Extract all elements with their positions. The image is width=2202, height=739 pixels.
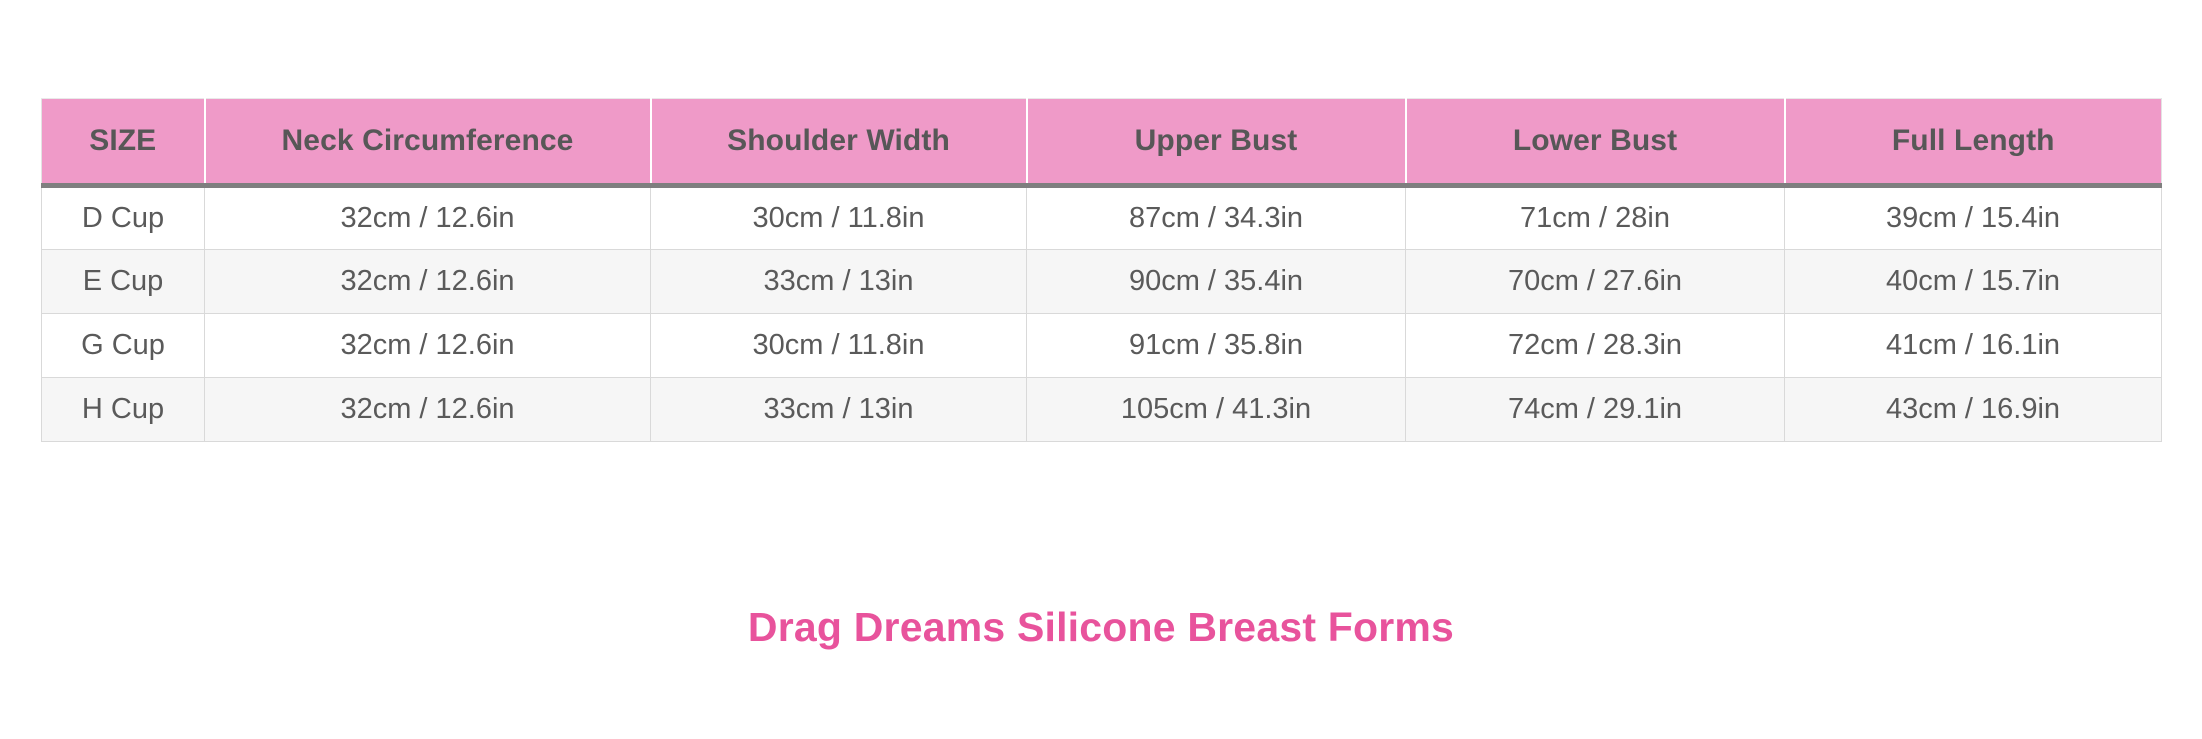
cell-neck-circumference: 32cm / 12.6in [205, 250, 651, 314]
column-header-size: SIZE [42, 99, 205, 186]
table-row: E Cup 32cm / 12.6in 33cm / 13in 90cm / 3… [42, 250, 2162, 314]
cell-size: E Cup [42, 250, 205, 314]
cell-full-length: 43cm / 16.9in [1785, 378, 2162, 442]
column-header-neck-circumference: Neck Circumference [205, 99, 651, 186]
table-row: H Cup 32cm / 12.6in 33cm / 13in 105cm / … [42, 378, 2162, 442]
table-row: D Cup 32cm / 12.6in 30cm / 11.8in 87cm /… [42, 186, 2162, 250]
cell-full-length: 41cm / 16.1in [1785, 314, 2162, 378]
cell-upper-bust: 105cm / 41.3in [1027, 378, 1406, 442]
cell-upper-bust: 91cm / 35.8in [1027, 314, 1406, 378]
cell-shoulder-width: 30cm / 11.8in [651, 314, 1027, 378]
cell-shoulder-width: 33cm / 13in [651, 378, 1027, 442]
size-chart-header: SIZE Neck Circumference Shoulder Width U… [42, 99, 2162, 186]
cell-neck-circumference: 32cm / 12.6in [205, 378, 651, 442]
cell-shoulder-width: 30cm / 11.8in [651, 186, 1027, 250]
cell-size: D Cup [42, 186, 205, 250]
cell-upper-bust: 87cm / 34.3in [1027, 186, 1406, 250]
size-chart-page: SIZE Neck Circumference Shoulder Width U… [0, 0, 2202, 739]
cell-full-length: 40cm / 15.7in [1785, 250, 2162, 314]
column-header-full-length: Full Length [1785, 99, 2162, 186]
table-row: G Cup 32cm / 12.6in 30cm / 11.8in 91cm /… [42, 314, 2162, 378]
cell-neck-circumference: 32cm / 12.6in [205, 186, 651, 250]
cell-shoulder-width: 33cm / 13in [651, 250, 1027, 314]
column-header-upper-bust: Upper Bust [1027, 99, 1406, 186]
cell-size: H Cup [42, 378, 205, 442]
cell-neck-circumference: 32cm / 12.6in [205, 314, 651, 378]
column-header-shoulder-width: Shoulder Width [651, 99, 1027, 186]
cell-lower-bust: 72cm / 28.3in [1406, 314, 1785, 378]
cell-lower-bust: 74cm / 29.1in [1406, 378, 1785, 442]
cell-lower-bust: 71cm / 28in [1406, 186, 1785, 250]
column-header-lower-bust: Lower Bust [1406, 99, 1785, 186]
header-row: SIZE Neck Circumference Shoulder Width U… [42, 99, 2162, 186]
cell-size: G Cup [42, 314, 205, 378]
cell-upper-bust: 90cm / 35.4in [1027, 250, 1406, 314]
cell-lower-bust: 70cm / 27.6in [1406, 250, 1785, 314]
size-chart-body: D Cup 32cm / 12.6in 30cm / 11.8in 87cm /… [42, 186, 2162, 442]
size-chart-table: SIZE Neck Circumference Shoulder Width U… [41, 98, 2162, 442]
size-chart-container: SIZE Neck Circumference Shoulder Width U… [41, 98, 2161, 442]
cell-full-length: 39cm / 15.4in [1785, 186, 2162, 250]
page-title: Drag Dreams Silicone Breast Forms [0, 605, 2202, 650]
